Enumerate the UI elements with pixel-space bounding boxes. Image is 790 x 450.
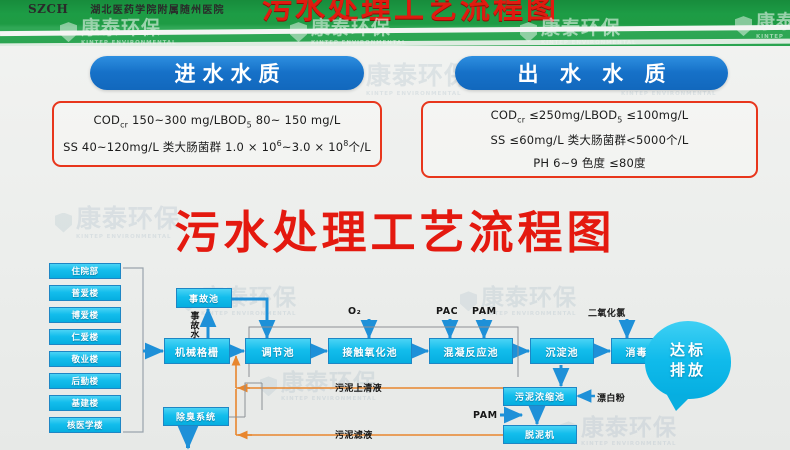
poster-root: 污水处理工艺流程图 康泰环保 KINTEP ENVIRONMENTAL 康泰环保… xyxy=(0,0,790,450)
regulation-tank-box[interactable]: 调节池 xyxy=(245,338,311,364)
compliant-discharge-cloud[interactable]: 达标 排放 xyxy=(645,321,731,399)
building-box[interactable]: 住院部 xyxy=(49,263,121,279)
building-box[interactable]: 后勤楼 xyxy=(49,373,121,389)
building-collector-bus xyxy=(123,268,163,432)
oxygen-label: O₂ xyxy=(348,306,361,317)
filtrate-label: 污泥滤液 xyxy=(335,428,373,441)
discharge-label-line2: 排放 xyxy=(670,360,706,380)
coagulation-reaction-tank-box[interactable]: 混凝反应池 xyxy=(429,338,513,364)
pac-label: PAC xyxy=(436,306,458,317)
chlorine-dioxide-label: 二氧化氯 xyxy=(588,306,626,319)
sludge-thickener-box[interactable]: 污泥浓缩池 xyxy=(503,387,577,406)
building-box[interactable]: 核医学楼 xyxy=(49,417,121,433)
bleaching-powder-label: 漂白粉 xyxy=(597,391,625,404)
building-box[interactable]: 博爱楼 xyxy=(49,307,121,323)
accident-tank-box[interactable]: 事故池 xyxy=(176,288,232,308)
building-box[interactable]: 仁爱楼 xyxy=(49,329,121,345)
building-box[interactable]: 敬业楼 xyxy=(49,351,121,367)
building-box[interactable]: 基建楼 xyxy=(49,395,121,411)
pam-bottom-label: PAM xyxy=(473,410,498,421)
sedimentation-tank-box[interactable]: 沉淀池 xyxy=(530,338,594,364)
contact-oxidation-tank-box[interactable]: 接触氧化池 xyxy=(328,338,412,364)
accident-water-label: 事故水 xyxy=(188,311,197,339)
mechanical-grille-box[interactable]: 机械格栅 xyxy=(164,338,230,364)
pam-top-label: PAM xyxy=(472,306,497,317)
deodorization-system-box[interactable]: 除臭系统 xyxy=(163,407,229,426)
sludge-dewatering-machine-box[interactable]: 脱泥机 xyxy=(503,425,577,444)
discharge-label-line1: 达标 xyxy=(670,340,706,360)
supernatant-label: 污泥上清液 xyxy=(335,381,382,394)
building-box[interactable]: 普爱楼 xyxy=(49,285,121,301)
